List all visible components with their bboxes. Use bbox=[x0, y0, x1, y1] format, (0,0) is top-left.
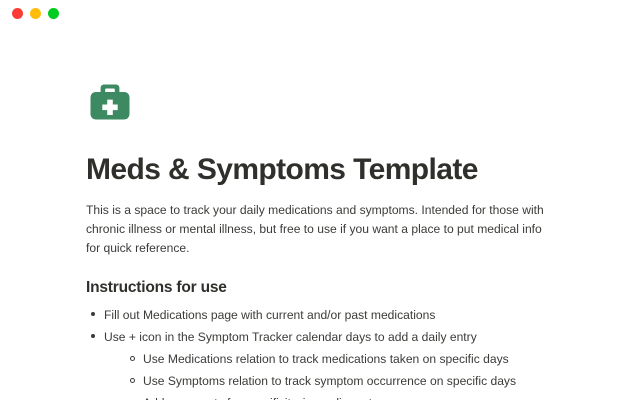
sub-list-item-label: Add comments for specificity, journaling… bbox=[143, 394, 586, 400]
list-item-label: Fill out Medications page with current a… bbox=[104, 306, 586, 324]
list-item-label: Use + icon in the Symptom Tracker calend… bbox=[104, 328, 586, 346]
document-page: Meds & Symptoms Template This is a space… bbox=[0, 28, 640, 400]
list-item: Fill out Medications page with current a… bbox=[86, 306, 586, 324]
minimize-window-button[interactable] bbox=[30, 8, 41, 19]
bullet-dot-icon bbox=[91, 312, 95, 316]
window-titlebar bbox=[0, 0, 640, 28]
first-aid-kit-icon[interactable] bbox=[86, 78, 134, 126]
instructions-sublist: Use Medications relation to track medica… bbox=[104, 350, 586, 400]
bullet-ring-icon bbox=[130, 378, 135, 383]
sub-list-item-label: Use Medications relation to track medica… bbox=[143, 350, 586, 368]
sub-list-item: Use Medications relation to track medica… bbox=[125, 350, 586, 368]
section-heading-instructions: Instructions for use bbox=[86, 277, 586, 298]
sub-list-item: Use Symptoms relation to track symptom o… bbox=[125, 372, 586, 390]
app-window: Meds & Symptoms Template This is a space… bbox=[0, 0, 640, 400]
close-window-button[interactable] bbox=[12, 8, 23, 19]
bullet-dot-icon bbox=[91, 334, 95, 338]
list-item: Use + icon in the Symptom Tracker calend… bbox=[86, 328, 586, 400]
sub-list-item: Add comments for specificity, journaling… bbox=[125, 394, 586, 400]
document-content: Meds & Symptoms Template This is a space… bbox=[86, 28, 586, 400]
maximize-window-button[interactable] bbox=[48, 8, 59, 19]
bullet-ring-icon bbox=[130, 356, 135, 361]
window-controls bbox=[12, 8, 59, 19]
sub-list-item-label: Use Symptoms relation to track symptom o… bbox=[143, 372, 586, 390]
page-title: Meds & Symptoms Template bbox=[86, 152, 586, 188]
page-intro-paragraph: This is a space to track your daily medi… bbox=[86, 201, 556, 258]
instructions-list: Fill out Medications page with current a… bbox=[86, 306, 586, 400]
